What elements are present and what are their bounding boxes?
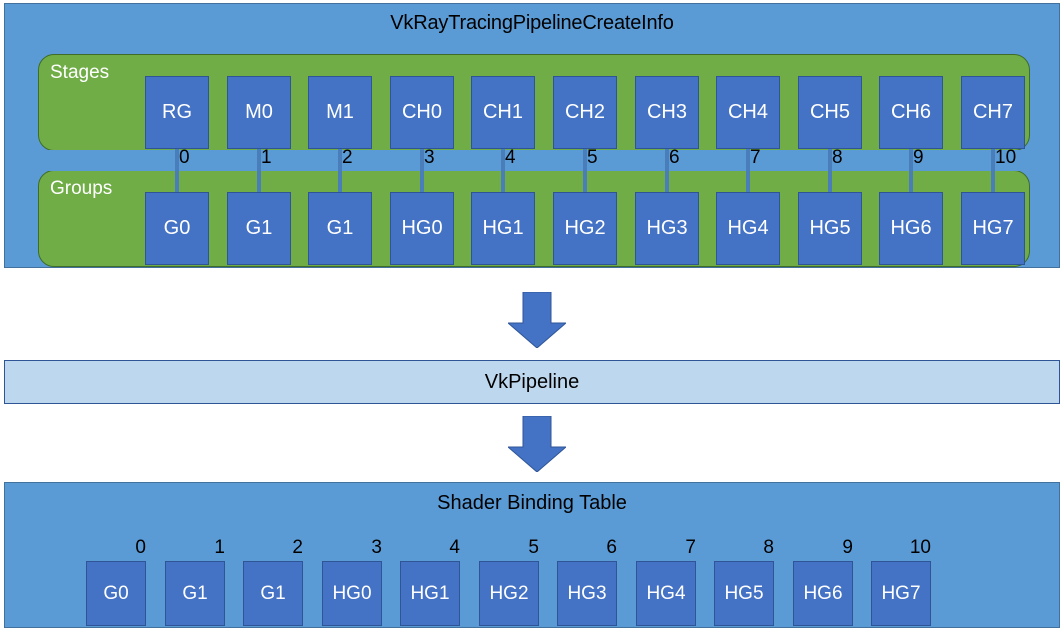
group-box[interactable]: HG4 <box>716 192 780 265</box>
stage-box[interactable]: CH5 <box>798 76 862 149</box>
diagram-canvas: VkRayTracingPipelineCreateInfo Stages Gr… <box>0 0 1064 630</box>
group-box[interactable]: G1 <box>308 192 372 265</box>
createinfo-panel: VkRayTracingPipelineCreateInfo Stages Gr… <box>4 3 1060 268</box>
stage-box[interactable]: M0 <box>227 76 291 149</box>
stage-group-index-label: 6 <box>669 147 680 168</box>
group-box[interactable]: HG2 <box>553 192 617 265</box>
group-box[interactable]: HG7 <box>961 192 1025 265</box>
down-arrow-icon <box>508 292 566 348</box>
sbt-entry-box[interactable]: G0 <box>86 561 146 626</box>
stage-box[interactable]: CH4 <box>716 76 780 149</box>
stage-box[interactable]: CH2 <box>553 76 617 149</box>
stage-group-index-label: 8 <box>832 147 843 168</box>
stage-box[interactable]: CH1 <box>471 76 535 149</box>
shader-binding-table-title: Shader Binding Table <box>5 492 1059 515</box>
group-box[interactable]: HG3 <box>635 192 699 265</box>
sbt-entry-box[interactable]: HG4 <box>636 561 696 626</box>
stage-group-index-label: 4 <box>505 147 516 168</box>
group-box[interactable]: HG0 <box>390 192 454 265</box>
vkpipeline-box: VkPipeline <box>4 360 1060 404</box>
stage-group-index-label: 7 <box>750 147 761 168</box>
stage-box[interactable]: CH3 <box>635 76 699 149</box>
sbt-entry-box[interactable]: HG2 <box>479 561 539 626</box>
stage-group-index-label: 10 <box>995 147 1016 168</box>
vkpipeline-label: VkPipeline <box>485 371 580 394</box>
stage-box[interactable]: CH7 <box>961 76 1025 149</box>
down-arrow-icon <box>508 416 566 472</box>
stage-group-index-label: 9 <box>913 147 924 168</box>
stage-group-index-label: 3 <box>424 147 435 168</box>
stage-box[interactable]: CH6 <box>879 76 943 149</box>
sbt-entry-box[interactable]: HG5 <box>714 561 774 626</box>
index-band: 012345678910 <box>39 150 1029 171</box>
sbt-entry-box[interactable]: HG7 <box>871 561 931 626</box>
stage-group-index-label: 0 <box>179 147 190 168</box>
stage-group-index-label: 2 <box>342 147 353 168</box>
stage-box[interactable]: CH0 <box>390 76 454 149</box>
sbt-index-label: 10 <box>831 537 931 559</box>
sbt-entry-box[interactable]: G1 <box>243 561 303 626</box>
group-box[interactable]: HG5 <box>798 192 862 265</box>
stages-label: Stages <box>50 62 109 84</box>
shader-binding-table-panel: Shader Binding Table 0G01G12G13HG04HG15H… <box>4 482 1060 628</box>
groups-label: Groups <box>50 178 112 200</box>
stage-group-index-label: 5 <box>587 147 598 168</box>
sbt-entry-box[interactable]: HG6 <box>793 561 853 626</box>
group-box[interactable]: G1 <box>227 192 291 265</box>
sbt-entry-box[interactable]: HG0 <box>322 561 382 626</box>
group-box[interactable]: HG6 <box>879 192 943 265</box>
createinfo-title: VkRayTracingPipelineCreateInfo <box>5 12 1059 35</box>
sbt-entry-box[interactable]: HG1 <box>400 561 460 626</box>
stage-box[interactable]: RG <box>145 76 209 149</box>
group-box[interactable]: HG1 <box>471 192 535 265</box>
stage-group-index-label: 1 <box>261 147 272 168</box>
group-box[interactable]: G0 <box>145 192 209 265</box>
stage-box[interactable]: M1 <box>308 76 372 149</box>
sbt-entry-box[interactable]: HG3 <box>557 561 617 626</box>
sbt-entry-box[interactable]: G1 <box>165 561 225 626</box>
